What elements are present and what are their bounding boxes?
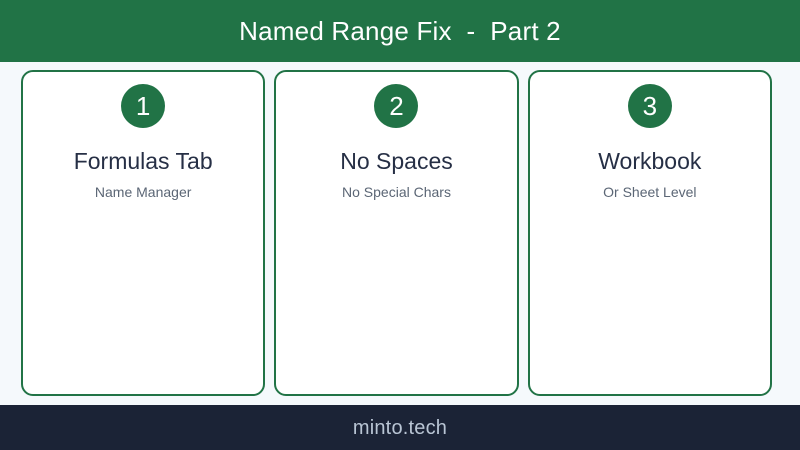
card-2-title: No Spaces — [340, 149, 453, 174]
card-1[interactable]: 1 Formulas Tab Name Manager — [21, 70, 265, 396]
card-2-subtitle: No Special Chars — [342, 185, 451, 200]
slide-footer: minto.tech — [0, 405, 800, 450]
card-3-title: Workbook — [598, 149, 701, 174]
cards-container: 1 Formulas Tab Name Manager 2 No Spaces … — [0, 62, 800, 405]
card-3[interactable]: 3 Workbook Or Sheet Level — [528, 70, 772, 396]
step-number-badge-3: 3 — [628, 84, 672, 128]
card-1-body — [23, 201, 263, 394]
slide-title: Named Range Fix - Part 2 — [239, 18, 561, 44]
step-number-badge-2: 2 — [374, 84, 418, 128]
card-3-body — [530, 201, 770, 394]
card-1-subtitle: Name Manager — [95, 185, 192, 200]
step-number-badge-1: 1 — [121, 84, 165, 128]
slide-header: Named Range Fix - Part 2 — [0, 0, 800, 62]
slide-root: Named Range Fix - Part 2 1 Formulas Tab … — [0, 0, 800, 450]
card-3-subtitle: Or Sheet Level — [603, 185, 696, 200]
footer-brand: minto.tech — [353, 418, 447, 438]
card-2-body — [276, 201, 516, 394]
card-1-title: Formulas Tab — [74, 149, 213, 174]
card-2[interactable]: 2 No Spaces No Special Chars — [274, 70, 518, 396]
